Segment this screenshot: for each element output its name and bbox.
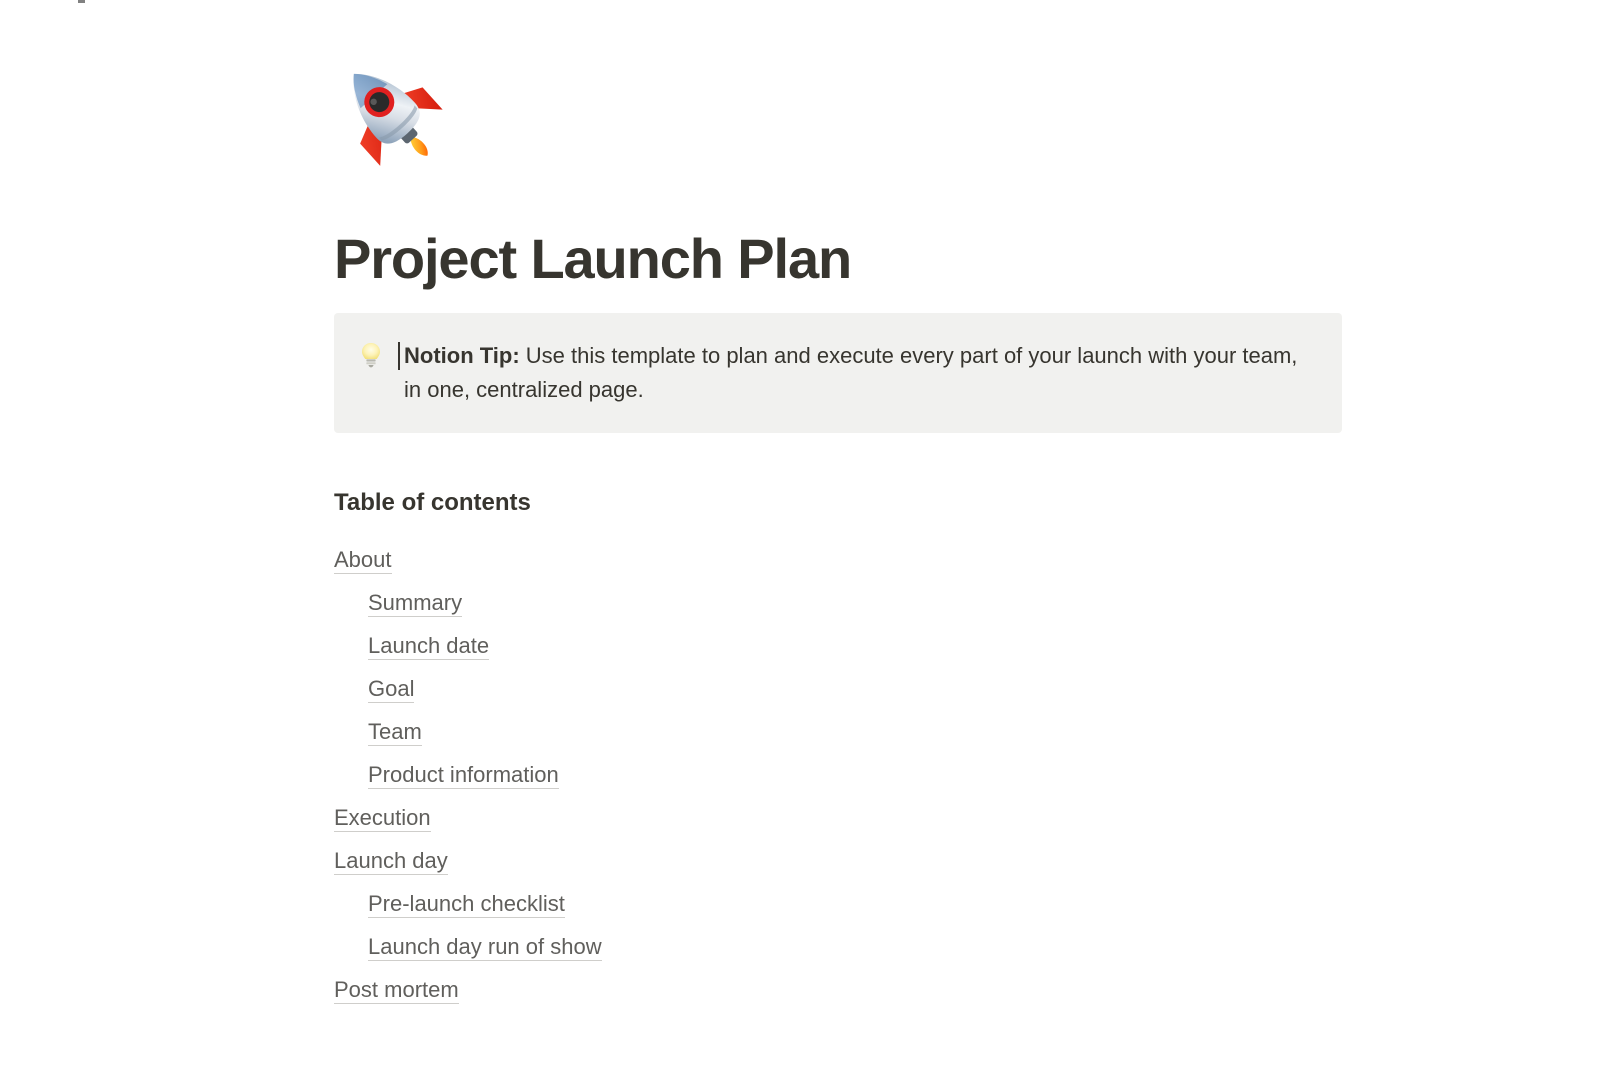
toc-link-post-mortem[interactable]: Post mortem (334, 968, 1034, 1011)
toc-link-execution[interactable]: Execution (334, 796, 1034, 839)
toc-label: About (334, 547, 392, 574)
toc-label: Goal (368, 676, 414, 703)
clipped-chrome-artifact (78, 0, 85, 3)
toc-link-launch-day-run-of-show[interactable]: Launch day run of show (334, 925, 1034, 968)
callout-body-label: Use this template to plan and execute ev… (404, 343, 1297, 402)
callout-text[interactable]: Notion Tip: Use this template to plan an… (398, 339, 1314, 407)
toc-label: Post mortem (334, 977, 459, 1004)
toc-link-summary[interactable]: Summary (334, 581, 1034, 624)
callout-strong-label: Notion Tip: (404, 343, 520, 368)
toc-link-about[interactable]: About (334, 538, 1034, 581)
toc-link-team[interactable]: Team (334, 710, 1034, 753)
light-bulb-icon[interactable] (358, 339, 384, 369)
toc-link-product-information[interactable]: Product information (334, 753, 1034, 796)
toc-link-launch-date[interactable]: Launch date (334, 624, 1034, 667)
toc-link-pre-launch-checklist[interactable]: Pre-launch checklist (334, 882, 1034, 925)
text-caret (398, 342, 400, 370)
notion-page: Project Launch Plan (0, 0, 1600, 1066)
toc-label: Launch day run of show (368, 934, 602, 961)
toc-label: Summary (368, 590, 462, 617)
toc-link-goal[interactable]: Goal (334, 667, 1034, 710)
rocket-icon[interactable] (334, 58, 446, 170)
toc-label: Pre-launch checklist (368, 891, 565, 918)
toc-label: Launch date (368, 633, 489, 660)
notion-tip-callout[interactable]: Notion Tip: Use this template to plan an… (334, 313, 1342, 433)
toc-link-launch-day[interactable]: Launch day (334, 839, 1034, 882)
toc-label: Team (368, 719, 422, 746)
toc-label: Launch day (334, 848, 448, 875)
toc-label: Execution (334, 805, 431, 832)
table-of-contents: About Summary Launch date Goal Team Prod… (334, 538, 1034, 1011)
toc-label: Product information (368, 762, 559, 789)
table-of-contents-heading[interactable]: Table of contents (334, 488, 531, 518)
page-title[interactable]: Project Launch Plan (334, 225, 851, 292)
